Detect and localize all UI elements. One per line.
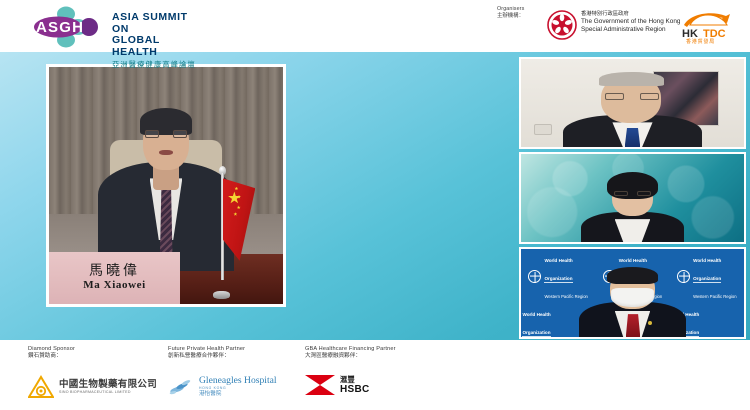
sponsor-future-private-health: Future Private Health Partner 創新私營醫療合作夥伴… <box>168 346 277 398</box>
svg-text:ASGH: ASGH <box>36 19 84 36</box>
svg-text:香港貿發局: 香港貿發局 <box>686 38 715 45</box>
header-bar: ASGH ASIA SUMMIT ON GLOBAL HEALTH 亞洲醫療健康… <box>0 0 750 52</box>
sino-biopharm-name-cn: 中國生物製藥有限公司 <box>59 379 157 390</box>
who-logo-block: World Health Organization Western Pacifi… <box>670 249 744 303</box>
participant3-tie <box>626 314 640 337</box>
speaker-glasses-right <box>173 130 188 138</box>
flag-star-large <box>228 191 241 204</box>
speaker-name-chinese: 馬曉偉 <box>89 263 140 279</box>
sino-biopharm-name-en: SINO BIOPHARMACEUTICAL LIMITED <box>59 390 157 395</box>
who-line1: World Health <box>693 258 721 263</box>
who-emblem-icon <box>528 270 541 283</box>
gleneagles-name-block: Gleneagles Hospital HONG KONG 港怡醫院 <box>199 375 277 398</box>
speaker-tie <box>160 186 173 257</box>
participant1-glasses-left <box>605 93 624 100</box>
speaker-name-english: Ma Xiaowei <box>83 279 146 292</box>
gleneagles-swirl-icon <box>168 379 194 395</box>
sino-biopharm-name-block: 中國生物製藥有限公司 SINO BIOPHARMACEUTICAL LIMITE… <box>59 379 157 395</box>
flag-star-4 <box>233 212 237 216</box>
who-line1: World Health <box>619 258 647 263</box>
who-line1: World Health <box>522 312 550 317</box>
main-video-content: 馬曉偉 Ma Xiaowei <box>49 67 283 304</box>
organisers-label: Organisers 主辦機構： <box>497 6 524 19</box>
asgho-logo-mark: ASGH <box>28 6 108 48</box>
hsbc-name-block: 滙豐 HSBC <box>340 375 370 395</box>
sponsor-gleneagles-title-cn: 創新私營醫療合作夥伴： <box>168 353 277 360</box>
who-line2: Organization <box>693 276 721 283</box>
asgho-logo: ASGH ASIA SUMMIT ON GLOBAL HEALTH 亞洲醫療健康… <box>28 6 203 48</box>
flag-base <box>213 291 230 299</box>
participant-video-tile-2[interactable] <box>519 152 746 244</box>
who-logo-block: World Health Organization Western Pacifi… <box>521 249 595 303</box>
sino-biopharm-logo: 中國生物製藥有限公司 SINO BIOPHARMACEUTICAL LIMITE… <box>28 375 157 399</box>
hksar-government-logo: 香港特別行政區政府 The Government of the Hong Kon… <box>547 7 677 45</box>
main-speaker-video-tile[interactable]: 馬曉偉 Ma Xiaowei <box>46 64 286 307</box>
asgho-title-line1: ASIA SUMMIT ON <box>112 12 203 35</box>
participant3-face-mask <box>611 288 653 307</box>
participant2-glasses-left <box>614 191 628 196</box>
china-desk-flag <box>196 162 262 299</box>
participant1-hair <box>599 72 664 86</box>
participant1-glasses-right <box>640 93 659 100</box>
bauhinia-emblem-icon <box>547 10 577 40</box>
sponsor-diamond-title-cn: 鑽石贊助商： <box>28 353 157 360</box>
sponsor-hsbc-title-en: GBA Healthcare Financing Partner <box>305 346 396 353</box>
flag-cloth <box>223 178 256 260</box>
hksar-logo-text: 香港特別行政區政府 The Government of the Hong Kon… <box>581 11 680 35</box>
hksar-name-en-line2: Special Administrative Region <box>581 26 680 34</box>
broadcast-screen: ASGH ASIA SUMMIT ON GLOBAL HEALTH 亞洲醫療健康… <box>0 0 750 410</box>
gleneagles-name-en: Gleneagles Hospital <box>199 375 277 386</box>
speaker-mouth <box>159 150 173 155</box>
hksar-name-en-line1: The Government of the Hong Kong <box>581 18 680 26</box>
gleneagles-name-cn: 港怡醫院 <box>199 391 277 398</box>
who-emblem-icon <box>677 270 690 283</box>
sino-biopharm-triangle-icon <box>28 375 54 399</box>
participant1-tie <box>625 128 641 147</box>
asgho-title-line2: GLOBAL HEALTH <box>112 35 203 58</box>
participant-video-tile-1[interactable] <box>519 57 746 149</box>
asgho-title-chinese: 亞洲醫療健康高峰論壇 <box>112 60 203 70</box>
participant2-glasses-right <box>637 191 651 196</box>
participant-video-tile-3[interactable]: World Health Organization Western Pacifi… <box>519 247 746 339</box>
flag-star-1 <box>234 187 238 191</box>
hsbc-name-cn: 滙豐 <box>340 375 370 384</box>
hktdc-logo: HK TDC 香港貿發局 <box>680 7 738 45</box>
who-line2: Organization <box>522 330 550 337</box>
sponsor-hsbc-title-cn: 大灣區醫療融資夥伴： <box>305 353 396 360</box>
flag-star-3 <box>237 205 241 209</box>
who-line1: World Health <box>544 258 572 263</box>
who-line2: Organization <box>544 276 572 283</box>
participant3-lapel-pin <box>648 321 652 325</box>
speaker-nameplate: 馬曉偉 Ma Xiaowei <box>49 252 180 304</box>
who-line3: Western Pacific Region <box>693 294 736 299</box>
participant1-wall-socket <box>534 124 552 135</box>
speaker-glasses-left <box>145 130 160 138</box>
organisers-label-cn: 主辦機構： <box>497 13 524 20</box>
sponsor-bar: Diamond Sponsor 鑽石贊助商： 中國生物製藥有限公司 SINO B… <box>0 340 750 410</box>
who-logo-block: World Health Organization Western Pacifi… <box>519 303 573 339</box>
sponsor-gleneagles-title-en: Future Private Health Partner <box>168 346 277 353</box>
asgho-logo-text: ASIA SUMMIT ON GLOBAL HEALTH 亞洲醫療健康高峰論壇 <box>112 12 203 70</box>
participant3-hair <box>607 267 658 285</box>
hsbc-name-en: HSBC <box>340 384 370 395</box>
sponsor-gba-healthcare-financing: GBA Healthcare Financing Partner 大灣區醫療融資… <box>305 346 396 395</box>
hsbc-hexagon-icon <box>305 375 335 395</box>
gleneagles-hospital-logo: Gleneagles Hospital HONG KONG 港怡醫院 <box>168 375 277 398</box>
who-line3: Western Pacific Region <box>544 294 587 299</box>
hsbc-logo: 滙豐 HSBC <box>305 375 396 395</box>
organisers-label-en: Organisers <box>497 6 524 13</box>
sponsor-diamond-title-en: Diamond Sponsor <box>28 346 157 353</box>
hksar-name-cn: 香港特別行政區政府 <box>581 11 680 18</box>
sponsor-diamond: Diamond Sponsor 鑽石贊助商： 中國生物製藥有限公司 SINO B… <box>28 346 157 399</box>
